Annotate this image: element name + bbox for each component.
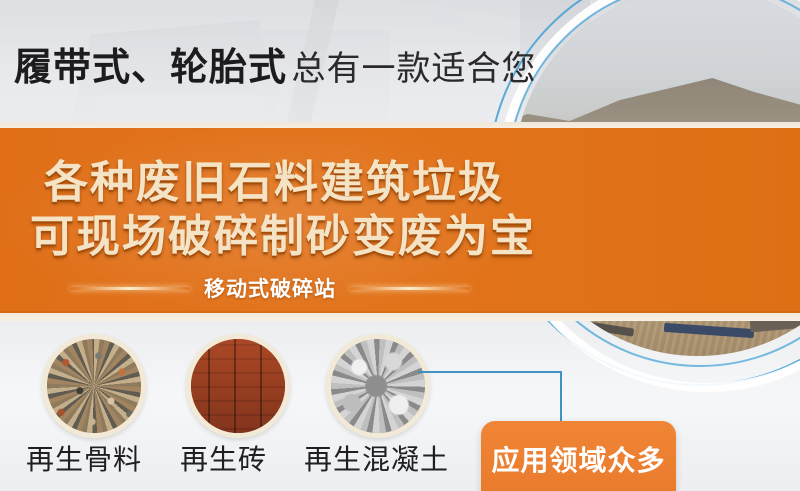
headline-normal: 总有一款适合您 — [291, 49, 536, 89]
band-bottom-edge — [0, 313, 800, 321]
connector-line-horizontal — [418, 371, 562, 373]
band-subtitle-row: 移动式破碎站 — [0, 268, 540, 308]
product-image-2 — [186, 334, 290, 438]
subtitle-right-line — [350, 287, 470, 290]
application-badge-label: 应用领域众多 — [491, 439, 665, 479]
band-subtitle: 移动式破碎站 — [204, 273, 336, 303]
product-image-3 — [326, 334, 430, 438]
product-label-3: 再生混凝土 — [304, 438, 449, 478]
band-line-2: 可现场破碎制砂变废为宝 — [30, 200, 536, 264]
application-badge[interactable]: 应用领域众多 — [481, 421, 676, 491]
product-label-1: 再生骨料 — [26, 438, 142, 478]
product-image-1 — [42, 334, 146, 438]
promo-banner: 履带式、轮胎式 总有一款适合您 — [0, 0, 800, 491]
connector-line-vertical — [560, 371, 562, 427]
subtitle-left-line — [70, 287, 190, 290]
headline-bold: 履带式、轮胎式 — [14, 45, 287, 89]
headline: 履带式、轮胎式 总有一款适合您 — [14, 36, 536, 91]
product-label-2: 再生砖 — [180, 438, 267, 478]
